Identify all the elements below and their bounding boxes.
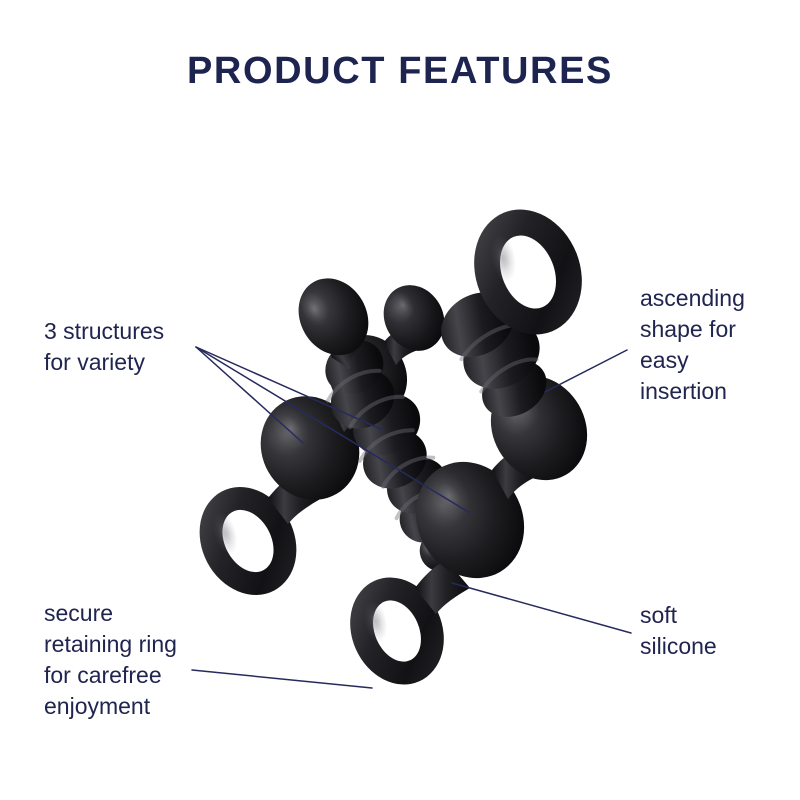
callout-soft-silicone: soft silicone — [640, 600, 717, 662]
leader-secure-ring — [192, 670, 372, 688]
callout-ascending-line-3: easy — [640, 345, 745, 376]
callout-structures-line-2: for variety — [44, 347, 164, 378]
callout-ascending-line-2: shape for — [640, 314, 745, 345]
callout-soft-line-1: soft — [640, 600, 717, 631]
callout-secure-line-3: for carefree — [44, 660, 177, 691]
leader-structures-1 — [196, 347, 303, 443]
callout-secure-line-2: retaining ring — [44, 629, 177, 660]
callout-secure-line-4: enjoyment — [44, 691, 177, 722]
callout-structures-line-1: 3 structures — [44, 316, 164, 347]
product-features-infographic: PRODUCT FEATURES — [0, 0, 800, 800]
callout-soft-line-2: silicone — [640, 631, 717, 662]
leader-ascending — [545, 350, 627, 392]
leader-soft-silicone — [452, 583, 631, 633]
callout-ascending-line-4: insertion — [640, 376, 745, 407]
callout-ascending-shape: ascending shape for easy insertion — [640, 283, 745, 407]
callout-secure-retaining-ring: secure retaining ring for carefree enjoy… — [44, 598, 177, 722]
callout-3-structures: 3 structures for variety — [44, 316, 164, 378]
callout-secure-line-1: secure — [44, 598, 177, 629]
callout-ascending-line-1: ascending — [640, 283, 745, 314]
